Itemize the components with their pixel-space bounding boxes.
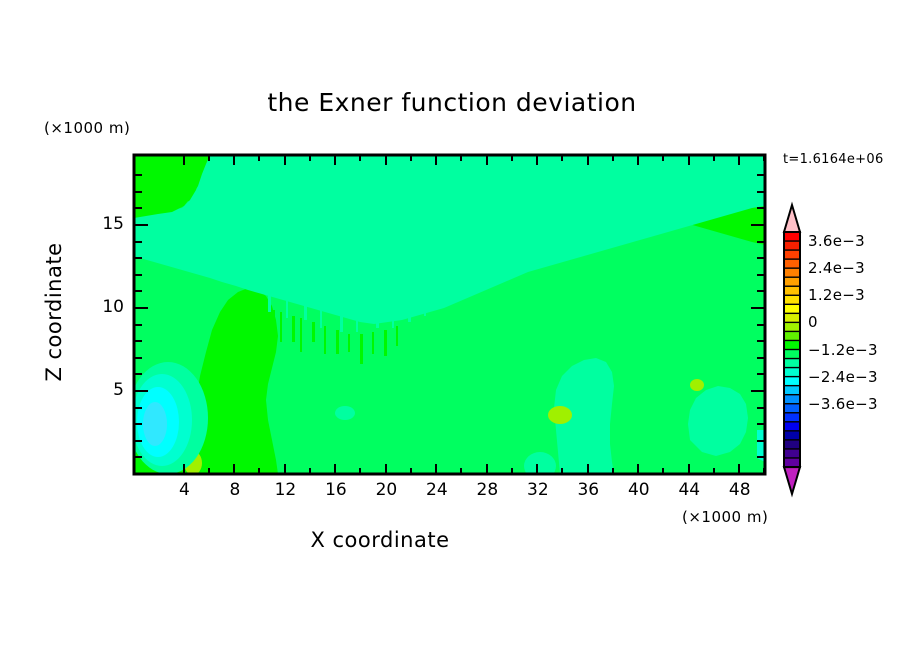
colorbar-band xyxy=(784,440,800,449)
colorbar-tick-label: 0 xyxy=(808,313,818,331)
colorbar-band xyxy=(784,368,800,377)
colorbar-band xyxy=(784,340,800,349)
colorbar-band xyxy=(784,359,800,368)
colorbar-band xyxy=(784,295,800,304)
colorbar-band xyxy=(784,250,800,259)
y-tick-label: 15 xyxy=(84,214,124,234)
colorbar-band xyxy=(784,395,800,404)
y-tick-label: 10 xyxy=(84,297,124,317)
colorbar-band xyxy=(784,313,800,322)
colorbar-tick-label: 1.2e−3 xyxy=(808,286,865,304)
colorbar-tick-label: 2.4e−3 xyxy=(808,259,865,277)
colorbar xyxy=(784,205,800,494)
colorbar-band xyxy=(784,304,800,313)
figure-canvas: the Exner function deviation (×1000 m) (… xyxy=(0,0,904,654)
x-tick-label: 24 xyxy=(417,480,457,500)
colorbar-under-arrow xyxy=(784,467,800,494)
colorbar-band xyxy=(784,286,800,295)
x-tick-label: 28 xyxy=(467,480,507,500)
colorbar-band xyxy=(784,268,800,277)
y-tick-label: 5 xyxy=(84,380,124,400)
colorbar-band xyxy=(784,232,800,241)
contour-field xyxy=(128,155,765,480)
colorbar-tick-label: −1.2e−3 xyxy=(808,341,878,359)
colorbar-band xyxy=(784,386,800,395)
colorbar-band xyxy=(784,449,800,458)
colorbar-band xyxy=(784,377,800,386)
colorbar-band xyxy=(784,458,800,467)
x-tick-label: 8 xyxy=(215,480,255,500)
colorbar-band xyxy=(784,322,800,331)
colorbar-tick-label: −3.6e−3 xyxy=(808,395,878,413)
colorbar-band xyxy=(784,431,800,440)
x-tick-label: 48 xyxy=(720,480,760,500)
x-tick-label: 4 xyxy=(164,480,204,500)
colorbar-band xyxy=(784,404,800,413)
colorbar-band xyxy=(784,422,800,431)
colorbar-band xyxy=(784,277,800,286)
colorbar-band xyxy=(784,259,800,268)
x-tick-label: 16 xyxy=(316,480,356,500)
colorbar-band xyxy=(784,413,800,422)
x-tick-label: 40 xyxy=(619,480,659,500)
contour-plot xyxy=(0,0,904,654)
colorbar-band xyxy=(784,331,800,340)
colorbar-band xyxy=(784,350,800,359)
x-tick-label: 20 xyxy=(366,480,406,500)
x-tick-label: 12 xyxy=(265,480,305,500)
x-tick-label: 36 xyxy=(568,480,608,500)
colorbar-tick-label: −2.4e−3 xyxy=(808,368,878,386)
x-tick-label: 32 xyxy=(518,480,558,500)
colorbar-bands xyxy=(784,232,800,467)
x-tick-label: 44 xyxy=(669,480,709,500)
colorbar-band xyxy=(784,241,800,250)
colorbar-over-arrow xyxy=(784,205,800,232)
colorbar-tick-label: 3.6e−3 xyxy=(808,232,865,250)
